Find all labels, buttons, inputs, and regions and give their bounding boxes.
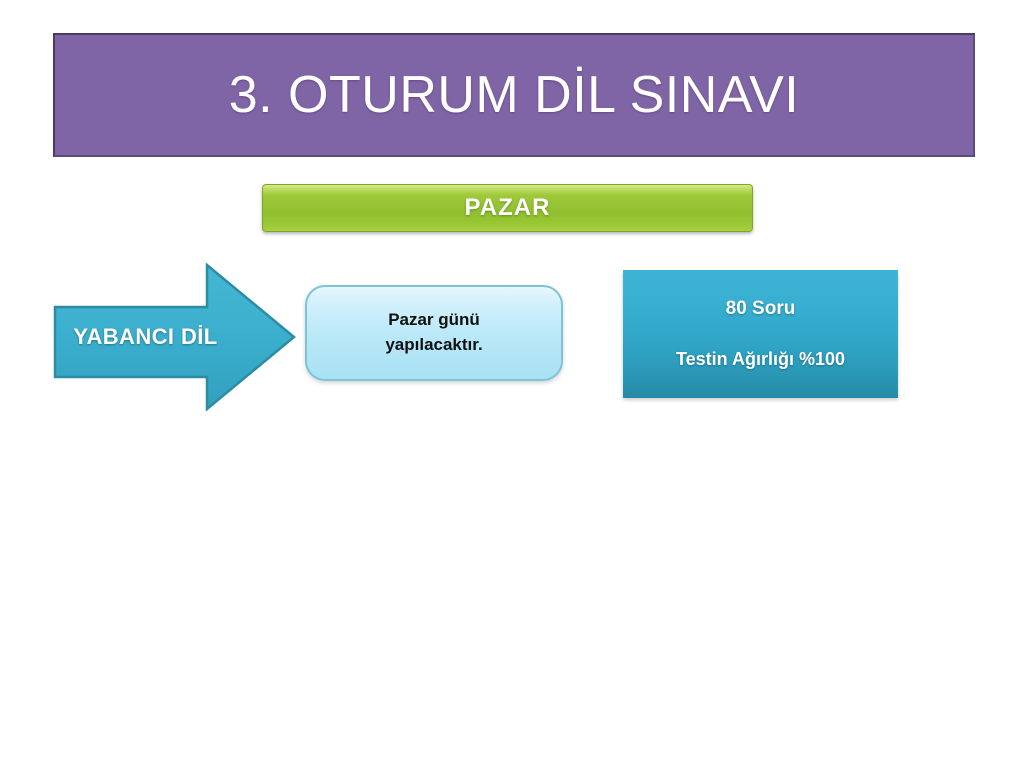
test-weight-label: Testin Ağırlığı %100 xyxy=(676,349,845,370)
question-count-label: 80 Soru xyxy=(726,298,796,320)
exam-day-note-line-2: yapılacaktır. xyxy=(385,333,482,358)
slide-canvas: 3. OTURUM DİL SINAVI PAZAR YABANCI DİL P… xyxy=(0,0,1024,768)
page-title: 3. OTURUM DİL SINAVI xyxy=(229,69,800,121)
exam-info-box: 80 Soru Testin Ağırlığı %100 xyxy=(623,270,898,398)
day-banner: PAZAR xyxy=(262,184,753,232)
subject-arrow: YABANCI DİL xyxy=(53,263,296,411)
right-arrow-icon xyxy=(53,263,296,411)
day-banner-label: PAZAR xyxy=(465,194,551,222)
slide-title-banner: 3. OTURUM DİL SINAVI xyxy=(53,33,975,157)
exam-day-note-box: Pazar günü yapılacaktır. xyxy=(305,285,563,381)
exam-day-note-line-1: Pazar günü xyxy=(388,308,480,333)
